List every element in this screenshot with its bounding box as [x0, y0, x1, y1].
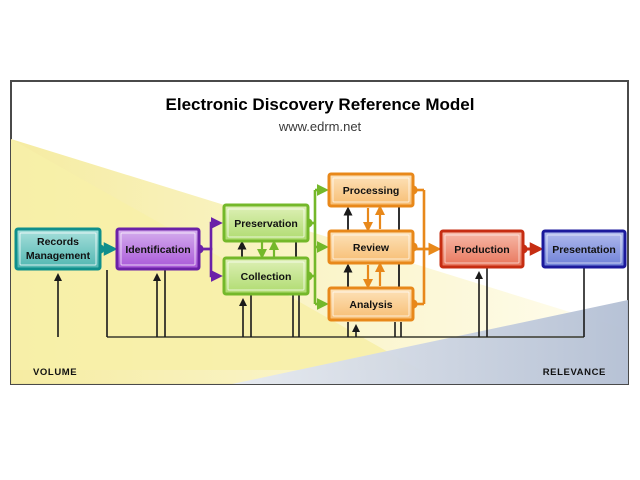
- stage-records-management-label-1: Records: [37, 236, 79, 248]
- stage-records-management[interactable]: Records Management: [16, 229, 100, 269]
- stage-preservation[interactable]: Preservation: [224, 205, 308, 241]
- volume-label: VOLUME: [33, 367, 77, 378]
- stage-production[interactable]: Production: [441, 231, 523, 267]
- stage-collection-label: Collection: [241, 271, 292, 283]
- stage-review[interactable]: Review: [329, 231, 413, 263]
- stage-processing-label: Processing: [343, 185, 400, 197]
- relevance-label: RELEVANCE: [543, 367, 606, 378]
- stage-presentation[interactable]: Presentation: [543, 231, 625, 267]
- stage-production-label: Production: [454, 244, 509, 256]
- stage-processing[interactable]: Processing: [329, 174, 413, 206]
- page-title: Electronic Discovery Reference Model: [166, 95, 475, 114]
- stage-presentation-label: Presentation: [552, 244, 616, 256]
- stage-analysis-label: Analysis: [349, 299, 392, 311]
- stage-preservation-label: Preservation: [234, 218, 298, 230]
- edrm-diagram-svg: Electronic Discovery Reference Model www…: [0, 0, 640, 480]
- edrm-diagram-canvas: Electronic Discovery Reference Model www…: [0, 0, 640, 480]
- stage-identification-label: Identification: [125, 244, 190, 256]
- stage-review-label: Review: [353, 242, 390, 254]
- page-subtitle: www.edrm.net: [278, 119, 362, 134]
- stage-collection[interactable]: Collection: [224, 258, 308, 294]
- stage-identification[interactable]: Identification: [117, 229, 199, 269]
- stage-analysis[interactable]: Analysis: [329, 288, 413, 320]
- stage-records-management-label-2: Management: [26, 250, 91, 262]
